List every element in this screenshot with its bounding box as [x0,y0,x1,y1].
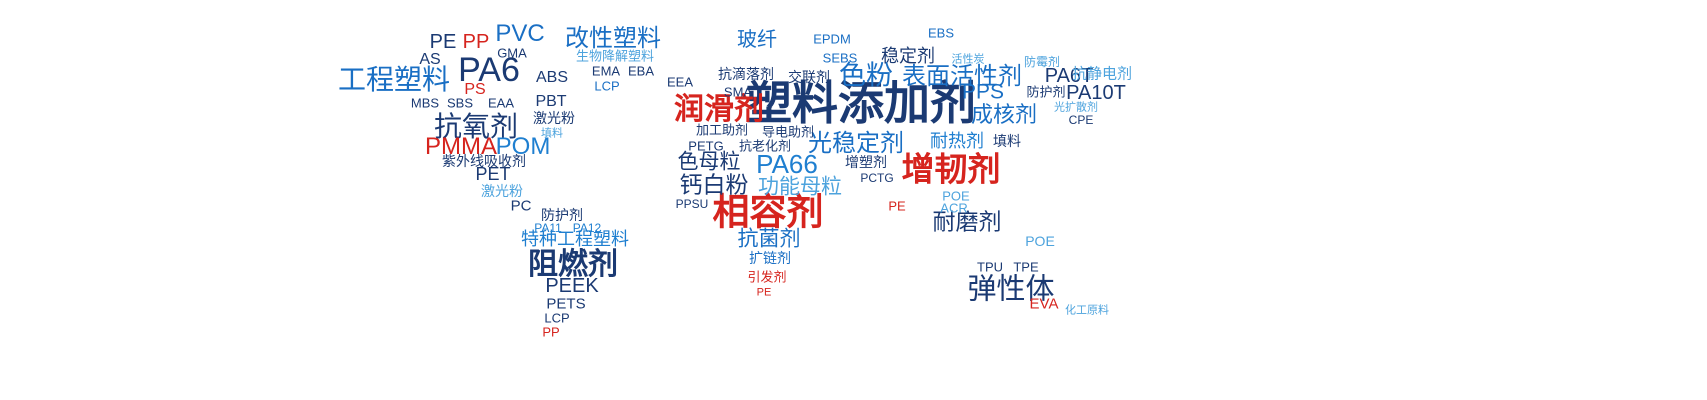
cloud-word[interactable]: 填料 [993,135,1021,149]
cloud-word[interactable]: 光扩散剂 [1054,102,1098,113]
cloud-word[interactable]: 生物降解塑料 [576,51,654,64]
word-cloud-canvas: 塑料添加剂相容剂增韧剂阻燃剂润滑剂工程塑料抗氧剂PA6弹性体表面活性剂光稳定剂色… [0,0,1707,400]
cloud-word[interactable]: 成核剂 [971,105,1037,127]
cloud-word[interactable]: 防护剂 [1026,87,1065,100]
cloud-word[interactable]: LCP [544,312,569,325]
cloud-word[interactable]: 抗滴落剂 [718,68,774,82]
cloud-word[interactable]: PPS [962,82,1004,103]
cloud-word[interactable]: MBS [411,97,439,110]
cloud-word[interactable]: PBT [535,94,566,110]
cloud-word[interactable]: CPE [1069,114,1094,126]
cloud-word[interactable]: PA11 [534,222,562,234]
cloud-word[interactable]: EPDM [813,33,851,46]
cloud-word[interactable]: 玻纤 [737,29,777,49]
cloud-word[interactable]: PPSU [676,198,709,210]
cloud-word[interactable]: 抗菌剂 [738,229,801,250]
cloud-word[interactable]: PETS [546,297,585,312]
cloud-word[interactable]: 增韧剂 [902,153,1001,186]
cloud-word[interactable]: 改性塑料 [565,26,661,50]
cloud-word[interactable]: PEEK [545,276,598,296]
cloud-word[interactable]: 抗静电剂 [1072,67,1132,82]
cloud-word[interactable]: PETG [688,140,723,153]
cloud-word[interactable]: 光稳定剂 [808,131,904,155]
cloud-word[interactable]: 化工原料 [1065,305,1109,316]
cloud-word[interactable]: 交联剂 [788,71,830,85]
cloud-word[interactable]: 扩链剂 [749,252,791,266]
cloud-word[interactable]: 稳定剂 [881,48,935,66]
cloud-word[interactable]: ABS [536,70,568,86]
cloud-word[interactable]: 导电助剂 [762,127,814,140]
cloud-word[interactable]: TPE [1013,261,1038,274]
cloud-word[interactable]: 色母粒 [678,152,741,173]
cloud-word[interactable]: 激光粉 [533,112,575,126]
cloud-word[interactable]: AS [419,52,440,68]
cloud-word[interactable]: PE [430,32,457,52]
cloud-word[interactable]: PP [542,326,559,339]
cloud-word[interactable]: TPU [977,261,1003,274]
cloud-word[interactable]: PA12 [573,222,601,234]
cloud-word[interactable]: PE [888,200,905,213]
cloud-word[interactable]: EVA [1030,297,1059,312]
cloud-word[interactable]: EBS [928,27,954,40]
cloud-word[interactable]: SMA [724,86,752,99]
cloud-word[interactable]: 防霉剂 [1024,56,1060,68]
cloud-word[interactable]: PE [757,288,772,299]
cloud-word[interactable]: EBA [628,65,654,78]
cloud-word[interactable]: 工程塑料 [338,66,450,94]
cloud-word[interactable]: 增塑剂 [845,156,887,170]
cloud-word[interactable]: PVC [495,22,544,46]
cloud-word[interactable]: 相容剂 [713,194,824,231]
cloud-word[interactable]: 润滑剂 [674,95,764,125]
cloud-word[interactable]: ACR [940,202,967,215]
cloud-word[interactable]: EAA [488,97,514,110]
cloud-word[interactable]: 功能母粒 [758,177,842,198]
cloud-word[interactable]: SEBS [823,52,858,65]
cloud-word[interactable]: PCTG [860,172,893,184]
cloud-word[interactable]: 紫外线吸收剂 [442,155,526,169]
cloud-word[interactable]: POE [1025,234,1055,248]
cloud-word[interactable]: PP [463,32,490,52]
cloud-word[interactable]: LCP [594,80,619,93]
cloud-word[interactable]: 钙白粉 [680,175,749,198]
cloud-word[interactable]: GMA [497,47,527,60]
cloud-word[interactable]: PC [511,199,532,214]
cloud-word[interactable]: 加工助剂 [696,125,748,138]
cloud-word[interactable]: 填料 [541,128,563,139]
cloud-word[interactable]: 活性炭 [952,54,985,65]
cloud-word[interactable]: EEA [667,76,693,89]
cloud-word[interactable]: EMA [592,65,620,78]
cloud-word[interactable]: 耐热剂 [930,133,984,151]
cloud-word[interactable]: PA66 [756,151,818,177]
cloud-word[interactable]: 引发剂 [747,272,786,285]
cloud-word[interactable]: SBS [447,97,473,110]
cloud-word[interactable]: 抗老化剂 [739,141,791,154]
